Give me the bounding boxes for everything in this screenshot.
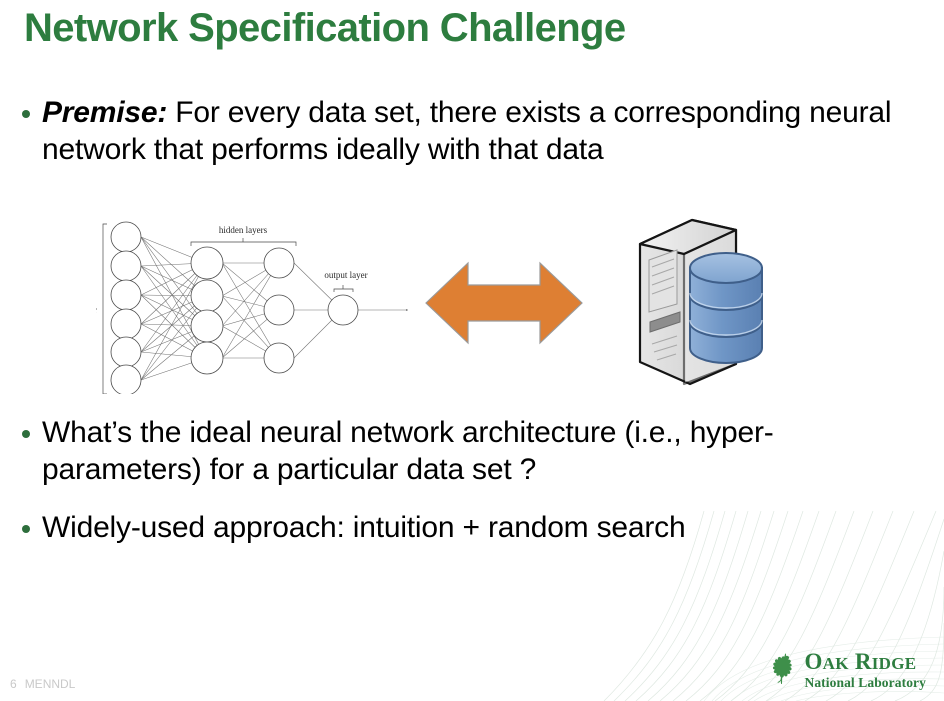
neural-network-diagram: input layer hidden layers output layer	[96, 218, 416, 394]
server-database-icon	[632, 212, 782, 392]
bullet-text-premise: Premise: For every data set, there exist…	[42, 95, 902, 169]
bullet-item-question: What’s the ideal neural network architec…	[22, 415, 902, 489]
page-title: Network Specification Challenge	[24, 6, 904, 50]
slide-footer: 6 MENNDL	[10, 677, 75, 691]
page-number: 6	[10, 677, 17, 691]
bullet-text-approach: Widely-used approach: intuition + random…	[42, 510, 912, 547]
double-headed-arrow-icon	[424, 256, 584, 350]
logo-title-idge: IDGE	[872, 654, 917, 673]
bullet-text-question: What’s the ideal neural network architec…	[42, 415, 902, 489]
nn-label-output-layer: output layer	[324, 270, 367, 280]
slide-canvas: Network Specification Challenge Premise:…	[0, 0, 944, 701]
bullet-lead-premise: Premise:	[42, 96, 167, 129]
bullet-item-approach: Widely-used approach: intuition + random…	[22, 510, 912, 547]
figure-illustration-row: input layer hidden layers output layer	[0, 212, 944, 402]
bullet-dot-icon	[22, 525, 30, 533]
bullet-body-premise: For every data set, there exists a corre…	[42, 96, 891, 166]
bullet-item-premise: Premise: For every data set, there exist…	[22, 95, 902, 169]
bullet-dot-icon	[22, 110, 30, 118]
bullet-dot-icon	[22, 430, 30, 438]
nn-label-hidden-layers: hidden layers	[219, 225, 268, 235]
deck-name-label: MENNDL	[25, 677, 76, 691]
logo-subtitle: National Laboratory	[804, 676, 926, 690]
oak-ridge-logo: OAK RIDGE National Laboratory	[768, 650, 926, 690]
logo-title: OAK RIDGE	[804, 650, 926, 673]
oak-leaf-icon	[768, 652, 800, 686]
nn-label-input-layer: input layer	[96, 305, 97, 315]
logo-title-ak: AK	[823, 654, 849, 673]
logo-wordmark: OAK RIDGE National Laboratory	[804, 650, 926, 690]
